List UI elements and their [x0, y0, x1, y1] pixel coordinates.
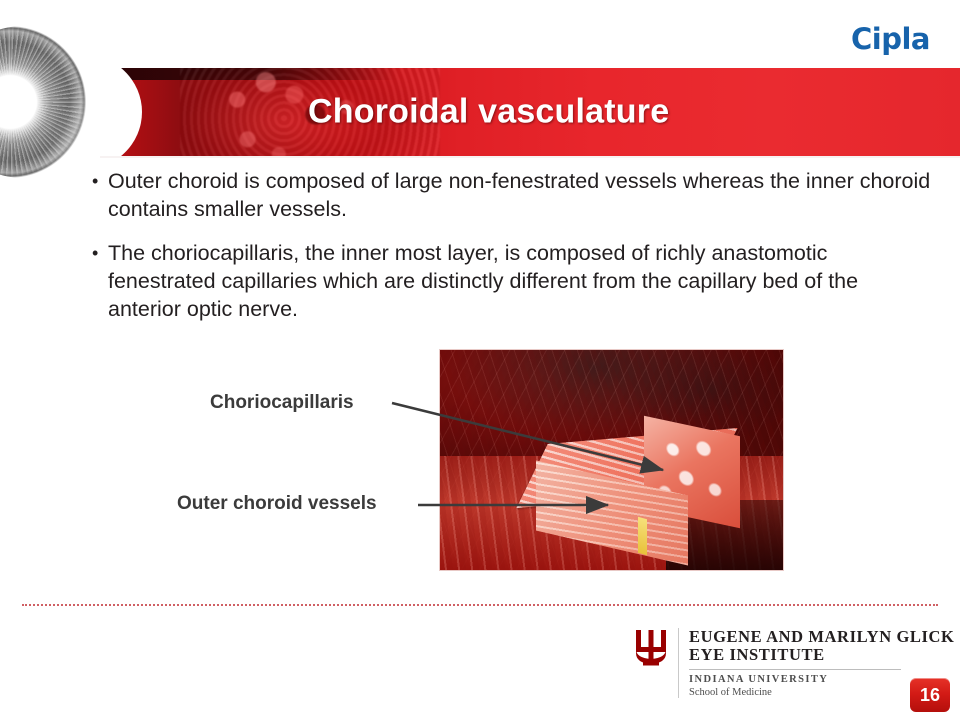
footer-institute-line2: EYE INSTITUTE: [689, 646, 954, 664]
slide-canvas: Cipla Choroidal vasculature • Outer chor…: [0, 0, 960, 720]
page-number-badge: 16: [910, 678, 950, 712]
footer-rule: [689, 669, 901, 670]
body-copy: • Outer choroid is composed of large non…: [92, 168, 932, 340]
cipla-logo: Cipla: [851, 22, 930, 56]
footer-divider: [22, 604, 938, 606]
page-title: Choroidal vasculature: [308, 93, 669, 132]
iu-glick-eye-institute-logo: EUGENE AND MARILYN GLICK EYE INSTITUTE I…: [634, 628, 954, 698]
bullet-text: Outer choroid is composed of large non-f…: [108, 168, 932, 224]
bullet-text: The choriocapillaris, the inner most lay…: [108, 240, 932, 324]
bullet-item: • The choriocapillaris, the inner most l…: [92, 240, 932, 324]
illustration-block-edge-highlight: [638, 517, 647, 556]
title-banner: Choroidal vasculature: [100, 66, 960, 158]
choroid-illustration: [439, 349, 784, 571]
bullet-dot-icon: •: [92, 240, 108, 266]
callout-label-choriocapillaris: Choriocapillaris: [210, 392, 354, 414]
callout-label-outer-choroid-vessels: Outer choroid vessels: [177, 493, 377, 515]
bullet-dot-icon: •: [92, 168, 108, 194]
footer-institute-line1: EUGENE AND MARILYN GLICK: [689, 628, 954, 646]
bullet-item: • Outer choroid is composed of large non…: [92, 168, 932, 224]
eye-iris-striation-overlay: [0, 26, 96, 178]
iu-trident-icon: [634, 628, 668, 668]
footer-institute-name: EUGENE AND MARILYN GLICK EYE INSTITUTE: [689, 628, 954, 665]
